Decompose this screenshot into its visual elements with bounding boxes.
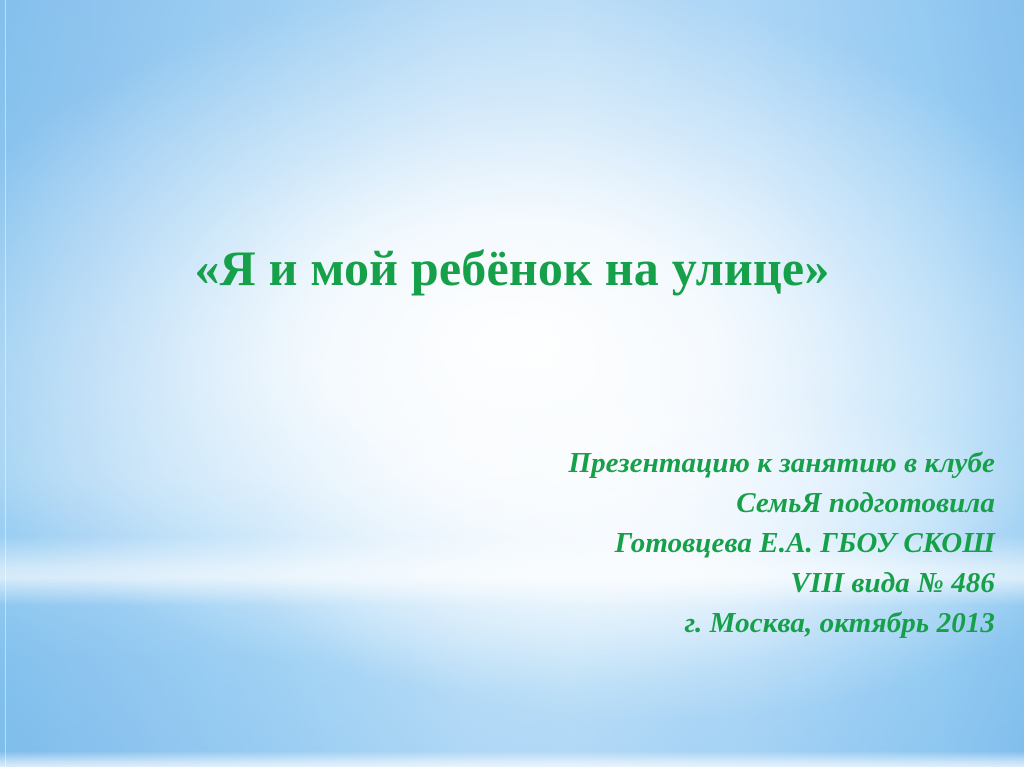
byline-line: СемьЯ подготовила <box>295 483 995 523</box>
byline-line: Презентацию к занятию в клубе <box>295 443 995 483</box>
byline-line: Готовцева Е.А. ГБОУ СКОШ <box>295 523 995 563</box>
slide-content: «Я и мой ребёнок на улице» Презентацию к… <box>0 0 1024 767</box>
byline-line: г. Москва, октябрь 2013 <box>295 603 995 643</box>
slide-byline: Презентацию к занятию в клубе СемьЯ подг… <box>295 443 995 643</box>
byline-line: VIII вида № 486 <box>295 563 995 603</box>
presentation-slide: «Я и мой ребёнок на улице» Презентацию к… <box>0 0 1024 767</box>
slide-title: «Я и мой ребёнок на улице» <box>60 240 964 296</box>
